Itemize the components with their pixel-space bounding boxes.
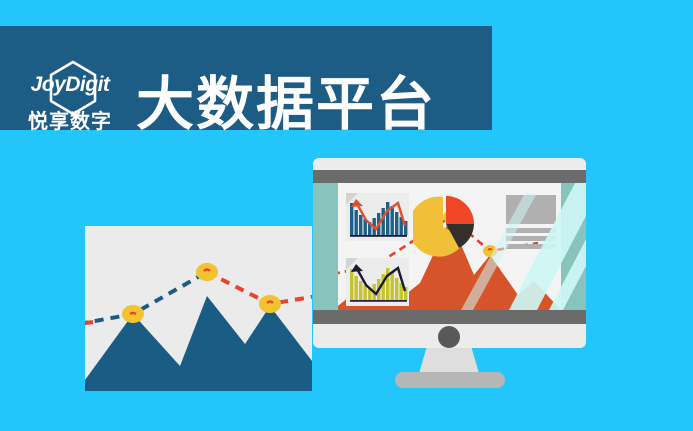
- logo-subtitle: 悦享数字: [14, 112, 126, 132]
- page-title: 大数据平台: [136, 74, 436, 136]
- brand-logo: JoyDigit 悦享数字: [14, 60, 126, 148]
- blue-mountain-panel: [85, 226, 312, 391]
- pie-chart: [413, 194, 477, 258]
- blue-bar-chart: [346, 193, 409, 241]
- axis-line: [350, 235, 407, 237]
- screen-side-band-left: [313, 183, 338, 310]
- header-banner: JoyDigit 悦享数字 大数据平台: [0, 26, 492, 130]
- gray-placeholder-block: [506, 195, 556, 224]
- monitor-neck: [418, 347, 480, 377]
- trend-arrow-head: [351, 264, 363, 272]
- pie-slice-b: [446, 196, 474, 224]
- logo-wordmark: JoyDigit: [14, 74, 126, 95]
- power-indicator-icon: [438, 326, 460, 348]
- monitor-top-bar: [313, 170, 586, 183]
- blue-bar-chart-card: [346, 193, 409, 241]
- marker-accent: [488, 249, 492, 250]
- screen-side-band-right: [561, 183, 586, 310]
- marker-accent: [130, 313, 136, 314]
- trend-line-left: [85, 272, 207, 324]
- axis-line: [350, 300, 407, 302]
- poster-canvas: JoyDigit 悦享数字 大数据平台: [0, 0, 693, 431]
- monitor-base: [395, 372, 505, 388]
- monitor-bottom-bar: [313, 310, 586, 324]
- gray-placeholder-line: [506, 236, 556, 241]
- mountain-shape: [85, 296, 312, 391]
- data-marker: [196, 263, 218, 281]
- blue-mountain-chart: [85, 226, 312, 391]
- gray-placeholder-line: [506, 244, 556, 249]
- trend-line-tip: [85, 322, 93, 324]
- desktop-monitor: [313, 158, 586, 348]
- olive-bar-chart: [346, 258, 409, 306]
- data-marker: [483, 245, 497, 257]
- gray-placeholder-line: [506, 228, 556, 233]
- monitor-screen: [313, 183, 586, 310]
- data-marker: [259, 295, 281, 313]
- olive-bar-chart-card: [346, 258, 409, 306]
- trend-line-right: [207, 272, 312, 304]
